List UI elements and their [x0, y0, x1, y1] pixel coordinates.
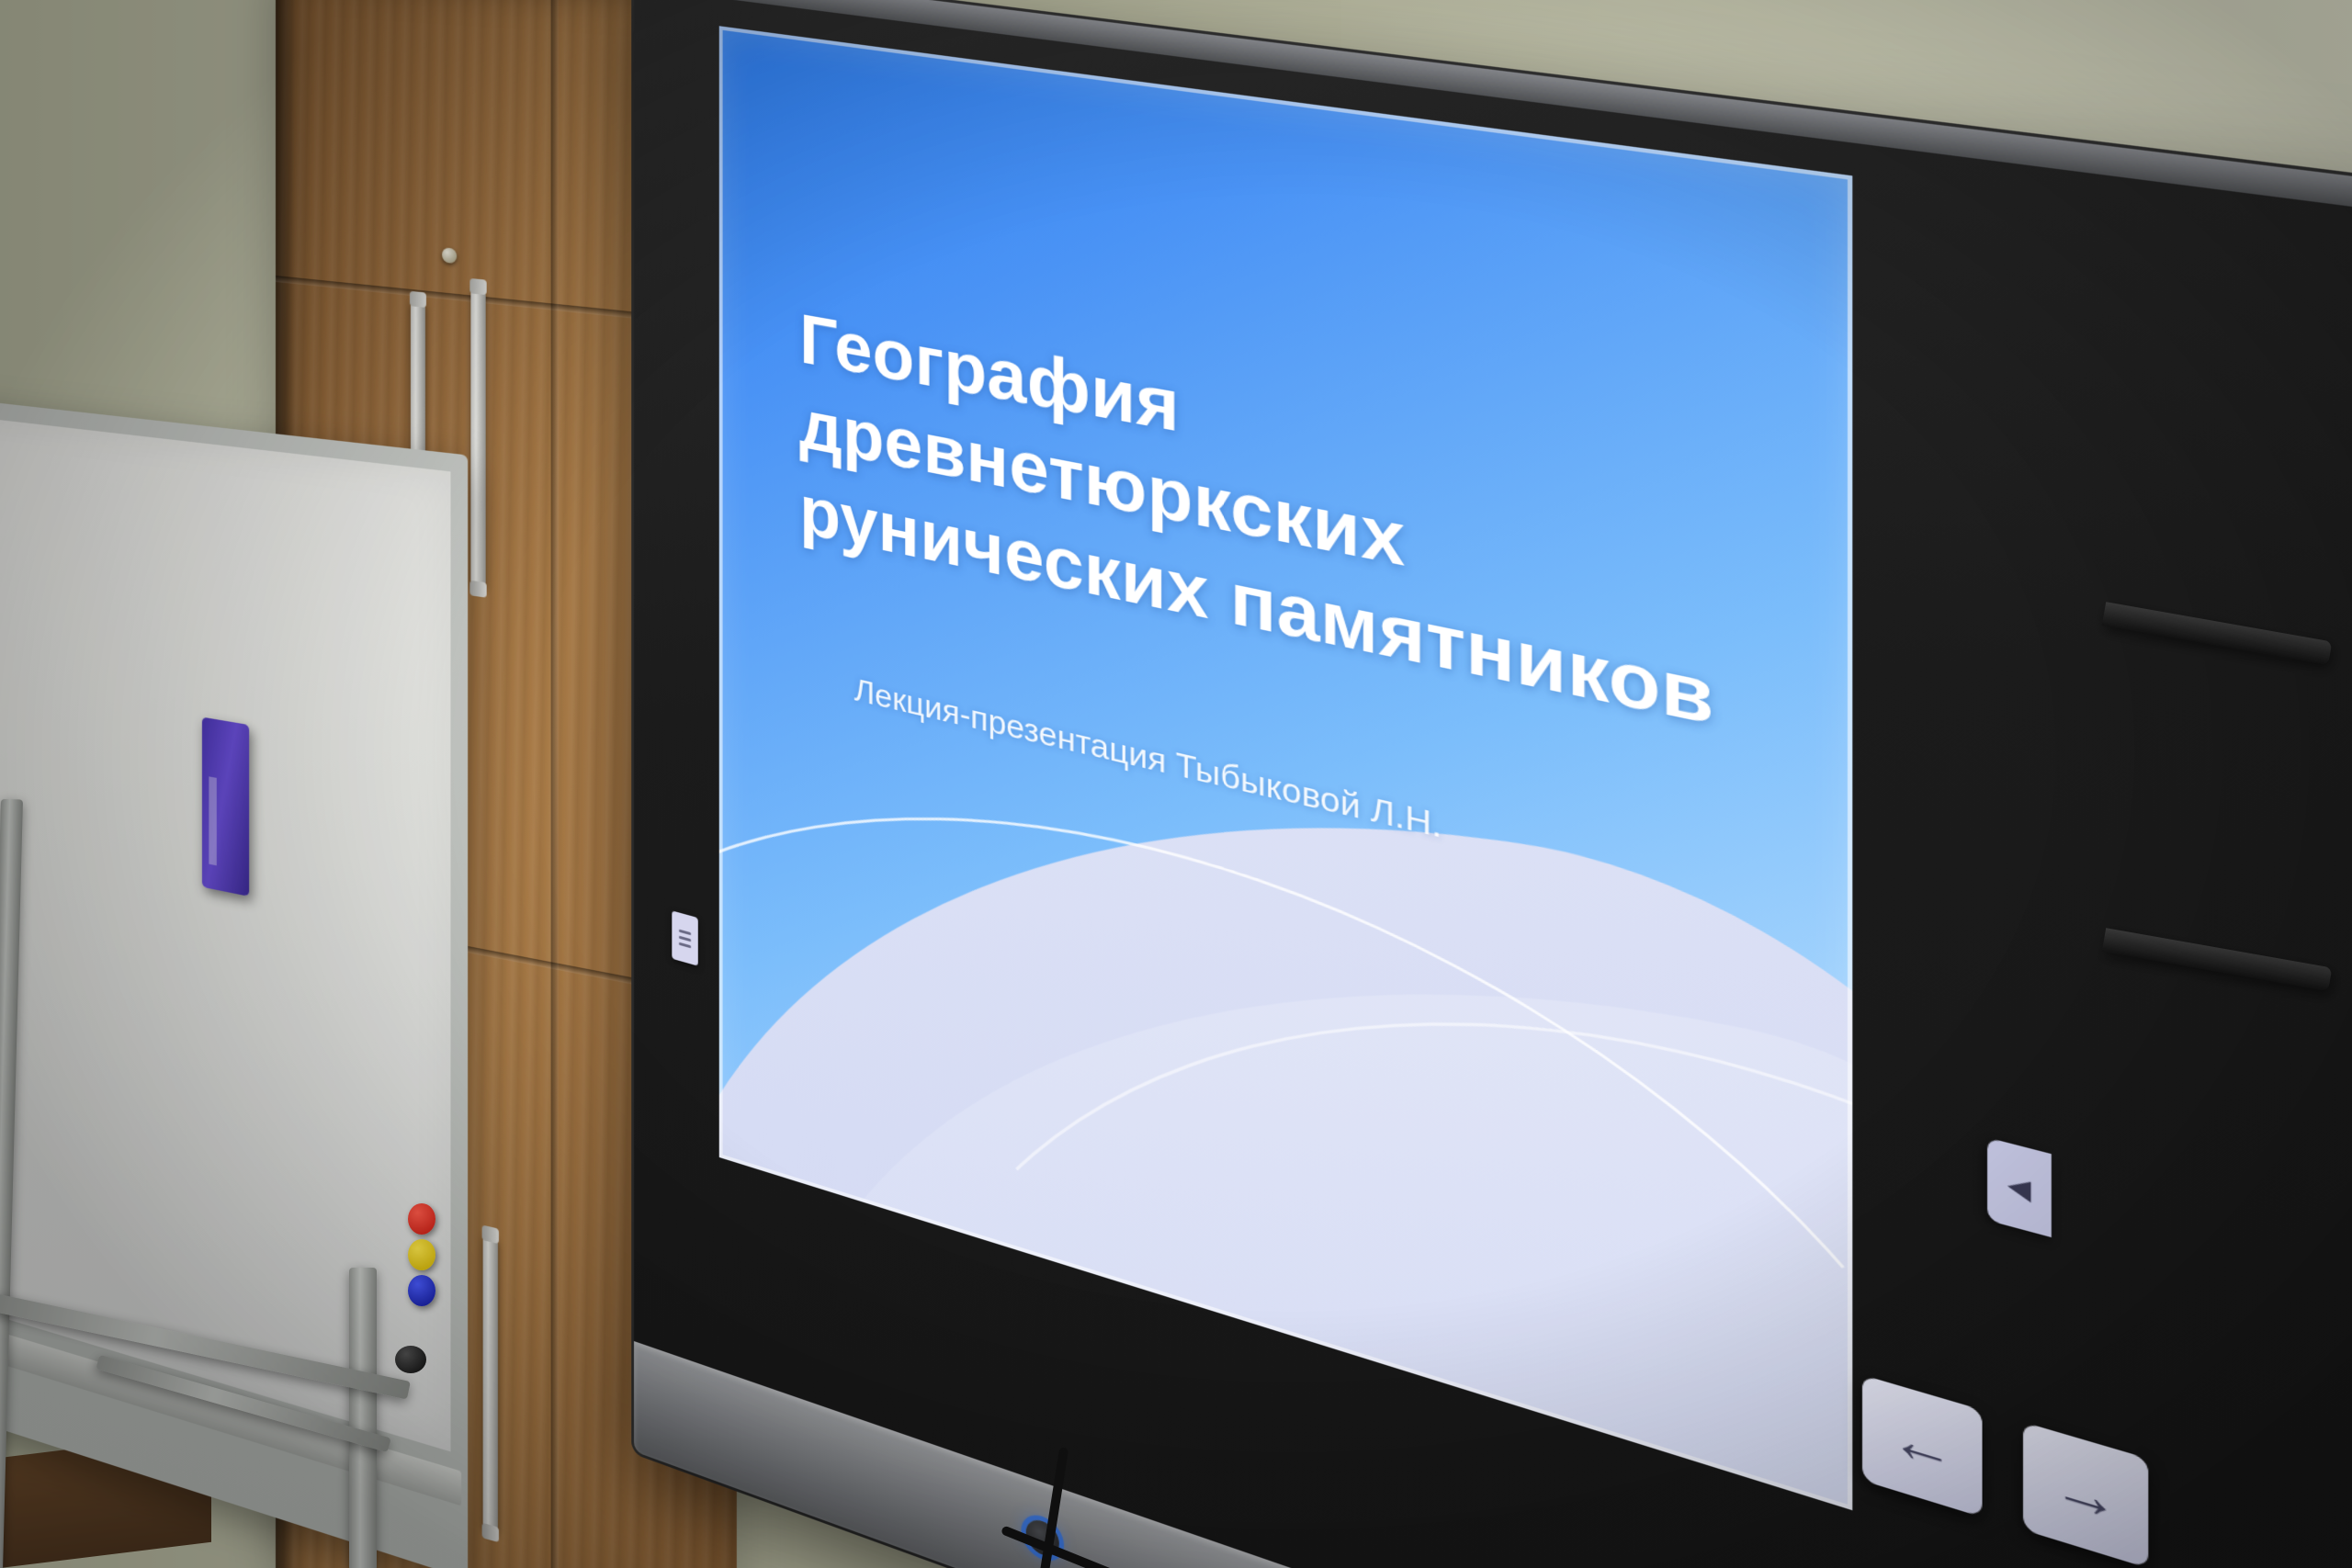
interactive-flat-panel-display: География древнетюркских рунических памя… [634, 0, 2352, 1568]
side-panel-toggle-tab[interactable]: ◀ [1987, 1137, 2052, 1237]
widget-line [679, 942, 691, 948]
widget-line [679, 929, 691, 935]
cabinet-door-handle[interactable] [470, 286, 485, 590]
magnet-yellow-icon[interactable] [408, 1239, 435, 1270]
cabinet-vertical-seam [551, 0, 559, 1568]
menu-widget-icon[interactable] [672, 910, 697, 965]
whiteboard-stand-leg [349, 1268, 377, 1568]
whiteboard-surface[interactable] [0, 413, 450, 1452]
magnet-red-icon[interactable] [408, 1203, 435, 1235]
slide-title: География древнетюркских рунических памя… [799, 296, 1756, 754]
marker-label [209, 776, 216, 865]
cabinet-lock-knob[interactable] [442, 247, 457, 264]
whiteboard-height-knob[interactable] [395, 1346, 426, 1373]
whiteboard-magnets [408, 1203, 435, 1311]
whiteboard-marker[interactable] [202, 717, 249, 897]
cabinet-door-handle[interactable] [483, 1233, 498, 1535]
classroom-photo-scene: География древнетюркских рунических памя… [0, 0, 2352, 1568]
widget-line [679, 935, 691, 942]
magnet-blue-icon[interactable] [408, 1275, 435, 1306]
